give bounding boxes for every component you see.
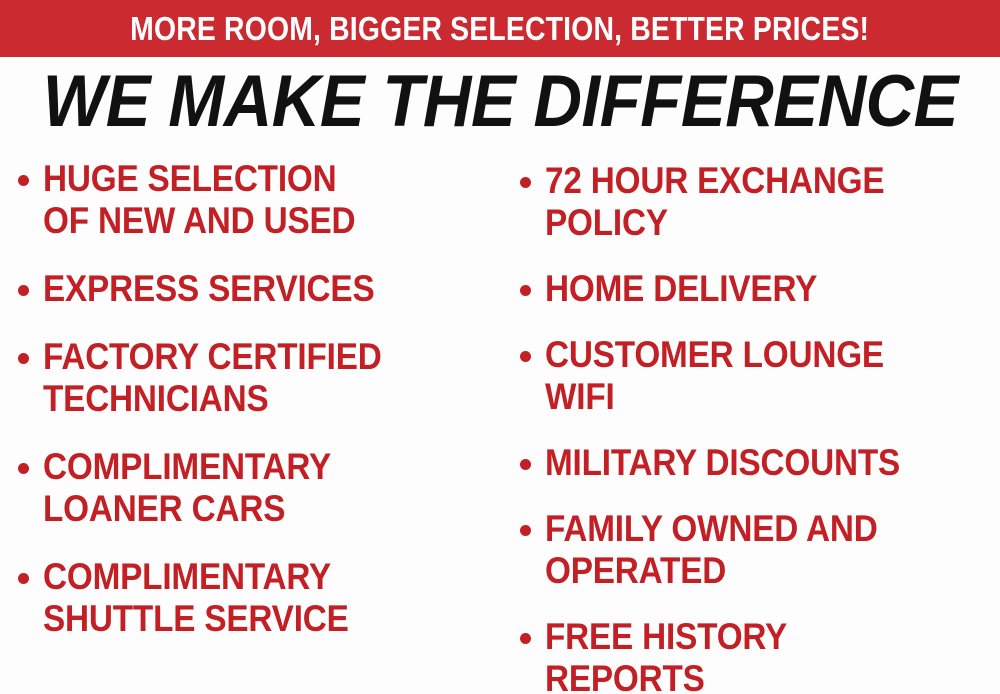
promo-poster: MORE ROOM, BIGGER SELECTION, BETTER PRIC…	[0, 0, 1000, 694]
bullet-dot-icon	[520, 285, 531, 296]
list-item-label: EXPRESS SERVICES	[43, 268, 374, 310]
top-banner: MORE ROOM, BIGGER SELECTION, BETTER PRIC…	[0, 0, 1000, 57]
list-item: HUGE SELECTION OF NEW AND USED	[18, 158, 496, 242]
bullet-dot-icon	[18, 573, 29, 584]
list-item-label: 72 HOUR EXCHANGE POLICY	[545, 160, 884, 244]
list-item: FREE HISTORY REPORTS	[520, 616, 1000, 694]
list-item-label: COMPLIMENTARY LOANER CARS	[43, 446, 331, 530]
list-item-label: FREE HISTORY REPORTS	[545, 616, 787, 694]
bullet-dot-icon	[18, 463, 29, 474]
list-item: COMPLIMENTARY SHUTTLE SERVICE	[18, 556, 496, 640]
list-item-label: MILITARY DISCOUNTS	[545, 442, 900, 484]
list-item-label: COMPLIMENTARY SHUTTLE SERVICE	[43, 556, 349, 640]
list-item-label: FAMILY OWNED AND OPERATED	[545, 508, 878, 592]
list-item: FAMILY OWNED AND OPERATED	[520, 508, 1000, 592]
list-item-label: CUSTOMER LOUNGE WIFI	[545, 334, 884, 418]
list-item-label: HUGE SELECTION OF NEW AND USED	[43, 158, 355, 242]
list-item: HOME DELIVERY	[520, 268, 1000, 310]
list-item: COMPLIMENTARY LOANER CARS	[18, 446, 496, 530]
list-item: FACTORY CERTIFIED TECHNICIANS	[18, 336, 496, 420]
list-item: 72 HOUR EXCHANGE POLICY	[520, 160, 1000, 244]
bullet-dot-icon	[520, 525, 531, 536]
list-item-label: HOME DELIVERY	[545, 268, 817, 310]
bullet-dot-icon	[520, 351, 531, 362]
list-item: CUSTOMER LOUNGE WIFI	[520, 334, 1000, 418]
bullet-dot-icon	[520, 459, 531, 470]
main-headline: WE MAKE THE DIFFERENCE	[0, 62, 1000, 140]
feature-list-left: HUGE SELECTION OF NEW AND USED EXPRESS S…	[18, 158, 496, 666]
list-item-label: FACTORY CERTIFIED TECHNICIANS	[43, 336, 382, 420]
list-item: MILITARY DISCOUNTS	[520, 442, 1000, 484]
list-item: EXPRESS SERVICES	[18, 268, 496, 310]
main-headline-text: WE MAKE THE DIFFERENCE	[42, 65, 957, 138]
bullet-dot-icon	[18, 175, 29, 186]
bullet-dot-icon	[18, 353, 29, 364]
banner-headline-text: MORE ROOM, BIGGER SELECTION, BETTER PRIC…	[130, 12, 869, 45]
bullet-dot-icon	[18, 285, 29, 296]
bullet-dot-icon	[520, 633, 531, 644]
bullet-dot-icon	[520, 177, 531, 188]
feature-list-right: 72 HOUR EXCHANGE POLICY HOME DELIVERY CU…	[520, 160, 1000, 694]
